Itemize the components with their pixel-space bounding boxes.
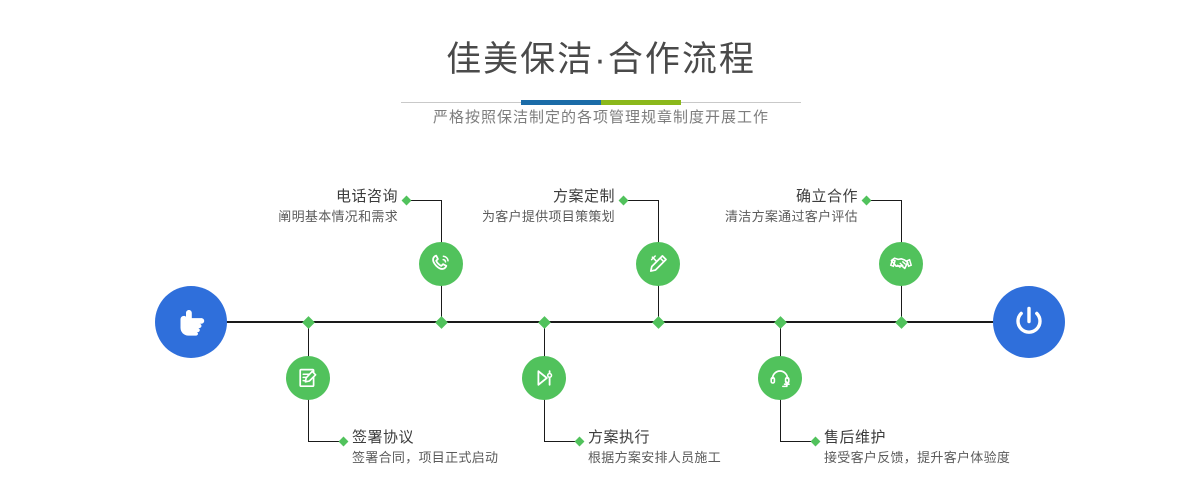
- step-icon-circle-step6[interactable]: [758, 356, 802, 400]
- handshake-icon: [888, 251, 914, 277]
- step-desc: 清洁方案通过客户评估: [645, 207, 858, 227]
- step-icon-circle-step4[interactable]: [286, 356, 330, 400]
- document-sign-icon: [295, 365, 321, 391]
- step-label-step3: 确立合作 清洁方案通过客户评估: [645, 187, 858, 227]
- flowchart-canvas: 佳美保洁·合作流程 严格按照保洁制定的各项管理规章制度开展工作: [0, 0, 1202, 502]
- axis-marker: [435, 316, 448, 329]
- page-title: 佳美保洁·合作流程: [0, 38, 1202, 82]
- step-icon-circle-step2[interactable]: [636, 242, 680, 286]
- step-desc: 接受客户反馈，提升客户体验度: [824, 448, 1084, 468]
- step-title: 售后维护: [824, 428, 1084, 448]
- step-label-step4: 签署协议 签署合同，项目正式启动: [352, 428, 592, 468]
- step-label-step1: 电话咨询 阐明基本情况和需求: [200, 187, 398, 227]
- connector-elbow-step2: [624, 200, 659, 201]
- play-execute-icon: [531, 365, 557, 391]
- label-marker-step4: [339, 437, 349, 447]
- step-icon-circle-step3[interactable]: [879, 242, 923, 286]
- step-icon-circle-step1[interactable]: [419, 242, 463, 286]
- customer-service-add-icon: [767, 365, 793, 391]
- step-title: 签署协议: [352, 428, 592, 448]
- step-icon-circle-step5[interactable]: [522, 356, 566, 400]
- phone-call-icon: [428, 251, 454, 277]
- pointing-hand-icon: [171, 302, 211, 342]
- step-label-step5: 方案执行 根据方案安排人员施工: [588, 428, 828, 468]
- axis-marker: [774, 316, 787, 329]
- step-label-step2: 方案定制 为客户提供项目策策划: [415, 187, 615, 227]
- connector-elbow-step1: [407, 200, 442, 201]
- timeline-start-node[interactable]: [155, 286, 227, 358]
- step-title: 电话咨询: [200, 187, 398, 207]
- divider-green-segment: [601, 100, 681, 105]
- step-title: 方案定制: [415, 187, 615, 207]
- step-label-step6: 售后维护 接受客户反馈，提升客户体验度: [824, 428, 1084, 468]
- pencil-edit-icon: [645, 251, 671, 277]
- step-desc: 根据方案安排人员施工: [588, 448, 828, 468]
- title-divider: [401, 100, 801, 105]
- step-desc: 阐明基本情况和需求: [200, 207, 398, 227]
- timeline-end-node[interactable]: [993, 286, 1065, 358]
- axis-marker: [895, 316, 908, 329]
- step-title: 确立合作: [645, 187, 858, 207]
- label-marker-step1: [402, 196, 412, 206]
- page-subtitle: 严格按照保洁制定的各项管理规章制度开展工作: [0, 106, 1202, 130]
- step-desc: 签署合同，项目正式启动: [352, 448, 592, 468]
- label-marker-step2: [619, 196, 629, 206]
- divider-blue-segment: [521, 100, 601, 105]
- step-desc: 为客户提供项目策策划: [415, 207, 615, 227]
- axis-marker: [302, 316, 315, 329]
- connector-elbow-step3: [867, 200, 902, 201]
- label-marker-step3: [862, 196, 872, 206]
- power-icon: [1008, 301, 1050, 343]
- axis-marker: [652, 316, 665, 329]
- step-title: 方案执行: [588, 428, 828, 448]
- axis-marker: [538, 316, 551, 329]
